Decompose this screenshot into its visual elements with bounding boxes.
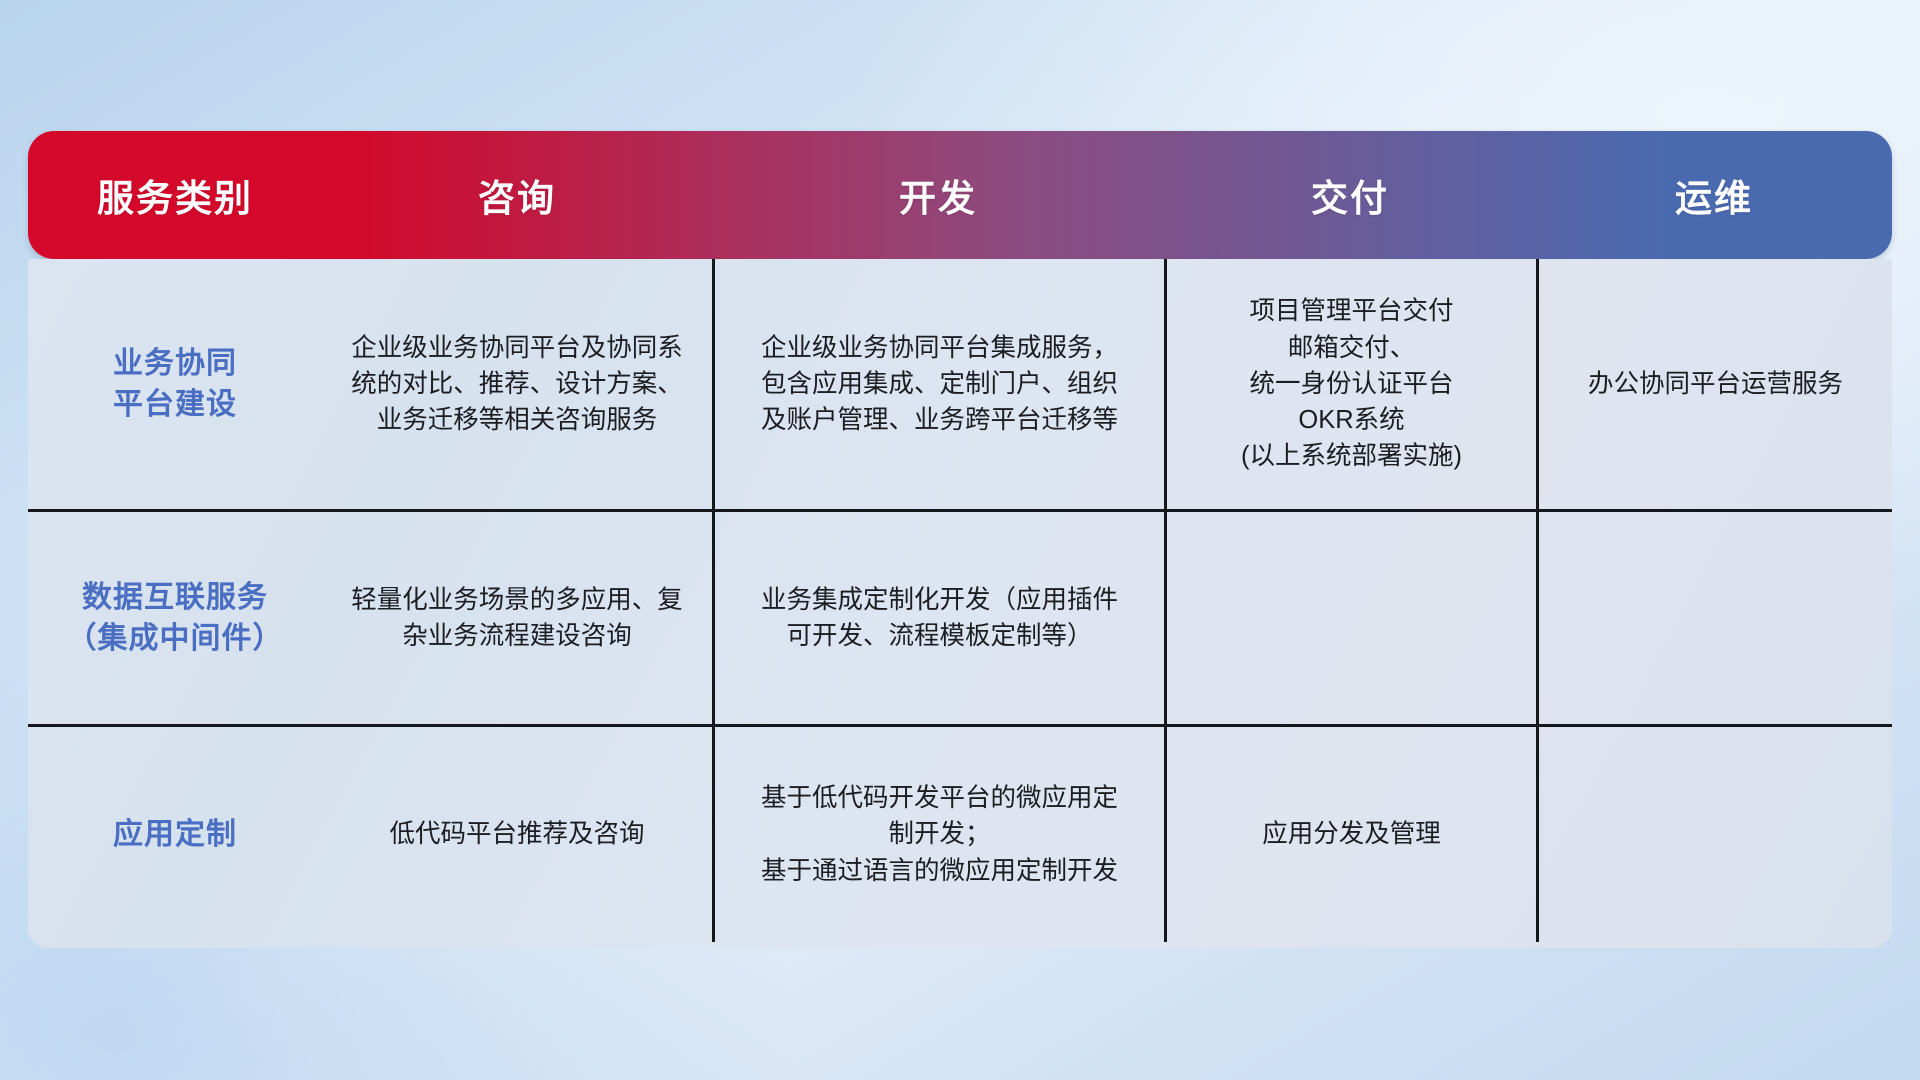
cell-r1-c3[interactable]: 企业级业务协同平台集成服务， 包含应用集成、定制门户、组织 及账户管理、业务跨平… xyxy=(712,259,1164,509)
page-root: 服务类别咨询开发交付运维 业务协同 平台建设企业级业务协同平台及协同系 统的对比… xyxy=(0,0,1920,1080)
cell-r3-c4[interactable]: 应用分发及管理 xyxy=(1164,727,1536,942)
cell-r2-c2[interactable]: 轻量化业务场景的多应用、复 杂业务流程建设咨询 xyxy=(322,512,712,724)
column-header-4[interactable]: 交付 xyxy=(1164,168,1536,222)
table-body: 业务协同 平台建设企业级业务协同平台及协同系 统的对比、推荐、设计方案、 业务迁… xyxy=(28,259,1892,948)
service-matrix-table: 服务类别咨询开发交付运维 业务协同 平台建设企业级业务协同平台及协同系 统的对比… xyxy=(28,131,1892,948)
row-label-3[interactable]: 应用定制 xyxy=(28,727,322,942)
table-header-bar: 服务类别咨询开发交付运维 xyxy=(28,131,1892,259)
cell-r1-c4[interactable]: 项目管理平台交付 邮箱交付、 统一身份认证平台 OKR系统 (以上系统部署实施) xyxy=(1164,259,1536,509)
cell-r2-c4[interactable] xyxy=(1164,512,1536,724)
table-row: 业务协同 平台建设企业级业务协同平台及协同系 统的对比、推荐、设计方案、 业务迁… xyxy=(28,259,1892,509)
table-row: 应用定制低代码平台推荐及咨询基于低代码开发平台的微应用定 制开发； 基于通过语言… xyxy=(28,724,1892,942)
cell-r3-c3[interactable]: 基于低代码开发平台的微应用定 制开发； 基于通过语言的微应用定制开发 xyxy=(712,727,1164,942)
cell-r2-c3[interactable]: 业务集成定制化开发（应用插件 可开发、流程模板定制等） xyxy=(712,512,1164,724)
column-header-3[interactable]: 开发 xyxy=(712,168,1164,222)
cell-r2-c5[interactable] xyxy=(1536,512,1892,724)
column-header-1[interactable]: 服务类别 xyxy=(28,168,322,222)
table-row: 数据互联服务 （集成中间件）轻量化业务场景的多应用、复 杂业务流程建设咨询业务集… xyxy=(28,509,1892,724)
cell-r1-c2[interactable]: 企业级业务协同平台及协同系 统的对比、推荐、设计方案、 业务迁移等相关咨询服务 xyxy=(322,259,712,509)
column-header-2[interactable]: 咨询 xyxy=(322,168,712,222)
row-label-1[interactable]: 业务协同 平台建设 xyxy=(28,259,322,509)
cell-r3-c5[interactable] xyxy=(1536,727,1892,942)
cell-r3-c2[interactable]: 低代码平台推荐及咨询 xyxy=(322,727,712,942)
column-header-5[interactable]: 运维 xyxy=(1536,168,1892,222)
row-label-2[interactable]: 数据互联服务 （集成中间件） xyxy=(28,512,322,724)
cell-r1-c5[interactable]: 办公协同平台运营服务 xyxy=(1536,259,1892,509)
